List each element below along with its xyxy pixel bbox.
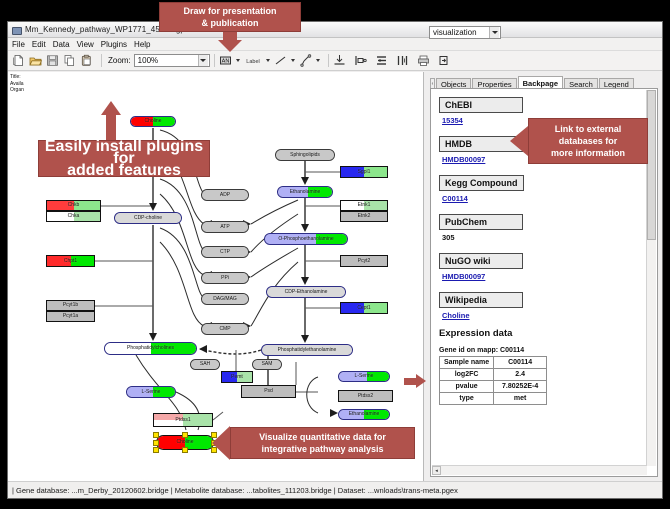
expr-value-type: met xyxy=(494,393,547,405)
db-header-pubchem: PubChem xyxy=(439,214,523,230)
metabolite-node-ethanolamine-right[interactable]: Ethanolamine xyxy=(338,409,390,420)
toolbar: Zoom: 100% AN Label xyxy=(8,51,662,71)
db-section-pubchem: PubChem 305 xyxy=(439,212,643,242)
node-label: Pemt xyxy=(231,375,243,380)
metabolite-node-ethanolamine[interactable]: Ethanolamine xyxy=(277,186,333,198)
menu-plugins[interactable]: Plugins xyxy=(101,40,127,49)
align-bottom-icon[interactable] xyxy=(333,54,346,67)
metabolite-node-l-serine-left[interactable]: L-Serine xyxy=(126,386,176,398)
db-section-nugo: NuGO wiki HMDB00097 xyxy=(439,251,643,281)
selection-handle[interactable] xyxy=(182,432,188,438)
menubar: File Edit Data View Plugins Help xyxy=(8,38,662,51)
node-label: ADP xyxy=(220,193,230,198)
callout-draw-stem xyxy=(223,32,237,40)
node-label: Chka xyxy=(68,214,80,219)
toolbar-separator xyxy=(101,54,102,67)
node-label: Cept1 xyxy=(357,306,370,311)
visualization-combobox[interactable]: visualization xyxy=(429,26,501,39)
callout-draw-line1: Draw for presentation xyxy=(177,5,282,17)
metabolite-node-cdp-choline[interactable]: CDP-choline xyxy=(114,212,182,224)
callout-plugins-line1: Easily install plugins for xyxy=(38,141,210,165)
svg-text:AN: AN xyxy=(221,59,229,65)
node-label: Phosphatidylethanolamine xyxy=(278,348,337,353)
menu-view[interactable]: View xyxy=(77,40,94,49)
node-label: CDP-choline xyxy=(134,216,162,221)
callout-draw: Draw for presentation & publication xyxy=(159,2,301,32)
callout-external-line3: more information xyxy=(545,147,631,159)
order-icon[interactable] xyxy=(438,54,451,67)
expr-value-log2fc: 2.4 xyxy=(494,369,547,381)
node-label: SAH xyxy=(200,362,210,367)
node-label: O-Phosphoethanolamine xyxy=(278,237,333,242)
expr-key-pvalue: pvalue xyxy=(440,381,494,393)
gene-node-chkb[interactable]: Chkb xyxy=(46,200,101,211)
expression-table: Sample name C00114 log2FC 2.4 pvalue 7.8… xyxy=(439,356,547,405)
metabolite-node-cdp-ethanolamine[interactable]: CDP-Ethanolamine xyxy=(266,286,346,298)
metabolite-node-phosphatidylcholines[interactable]: Phosphatidylcholines xyxy=(104,342,197,355)
open-folder-icon[interactable] xyxy=(29,54,42,67)
node-label: Etnk2 xyxy=(358,214,371,219)
pathvisio-window: Mm_Kennedy_pathway_WP1771_45176.gpml Fil… xyxy=(7,21,663,499)
table-row: Sample name C00114 xyxy=(440,357,547,369)
callout-draw-pointer xyxy=(218,40,242,52)
node-label: Ptdss1 xyxy=(175,418,190,423)
print-icon[interactable] xyxy=(417,54,430,67)
node-label: Sgpl1 xyxy=(358,170,371,175)
status-bar: | Gene database: ...m_Derby_20120602.bri… xyxy=(8,481,662,498)
gene-node-pcyt1b[interactable]: Pcyt1b xyxy=(46,300,95,311)
node-label: Psd xyxy=(264,389,273,394)
node-label: Ethanolamine xyxy=(290,190,321,195)
metabolite-node-l-serine-right[interactable]: L-Serine xyxy=(338,371,390,382)
anchor-dropdown-icon[interactable] xyxy=(316,59,320,62)
status-text: | Gene database: ...m_Derby_20120602.bri… xyxy=(12,486,458,495)
expr-value-pvalue: 7.80252E-4 xyxy=(494,381,547,393)
gene-node-pemt[interactable]: Pemt xyxy=(221,371,253,383)
db-section-kegg: Kegg Compound C00114 xyxy=(439,173,643,203)
anchor-icon[interactable] xyxy=(299,54,312,67)
callout-expression-stem xyxy=(404,378,418,385)
gene-node-ptdss1[interactable]: Ptdss1 xyxy=(153,413,213,427)
callout-visualize: Visualize quantitative data for integrat… xyxy=(230,427,415,459)
selection-handle[interactable] xyxy=(153,440,159,446)
gene-id-on-mapp: Gene id on mapp: C00114 xyxy=(439,347,643,354)
metabolite-node-dagmag[interactable]: DAG/MAG xyxy=(201,293,249,305)
node-label: CDP-Ethanolamine xyxy=(285,290,328,295)
db-link-wikipedia[interactable]: Choline xyxy=(442,311,643,320)
pathway-canvas[interactable]: Title: Availa Organ xyxy=(8,72,424,481)
callout-draw-line2: & publication xyxy=(196,17,265,29)
node-label: Pcyt2 xyxy=(358,259,371,264)
main-split: Title: Availa Organ xyxy=(8,72,662,481)
toolbar-separator-2 xyxy=(214,54,215,67)
gene-node-chka[interactable]: Chka xyxy=(46,211,101,222)
node-label: SAM xyxy=(262,362,273,367)
table-row: type met xyxy=(440,393,547,405)
node-label: ATP xyxy=(220,225,229,230)
gene-node-sgpl1[interactable]: Sgpl1 xyxy=(340,166,388,178)
db-link-nugo-wiki[interactable]: HMDB00097 xyxy=(442,272,643,281)
gene-node-chpt1[interactable]: Chpt1 xyxy=(46,255,95,267)
callout-plugins: Easily install plugins for added feature… xyxy=(38,140,210,177)
save-icon[interactable] xyxy=(46,54,59,67)
selection-handle[interactable] xyxy=(153,432,159,438)
callout-external-line2: databases for xyxy=(553,135,624,147)
line-icon[interactable] xyxy=(274,54,287,67)
metabolite-node-o-phosphoethanolamine[interactable]: O-Phosphoethanolamine xyxy=(264,233,348,245)
scroll-left-arrow-icon[interactable]: ◂ xyxy=(432,466,441,475)
node-label: Choline xyxy=(145,119,162,124)
callout-visualize-line2: integrative pathway analysis xyxy=(255,443,389,455)
label-icon[interactable]: Label xyxy=(244,54,262,67)
node-label: PPi xyxy=(221,276,229,281)
callout-plugins-pointer xyxy=(101,101,121,115)
datanode-dropdown-icon[interactable] xyxy=(236,59,240,62)
node-label: CMP xyxy=(219,327,230,332)
node-label: Choline xyxy=(177,440,194,445)
callout-external-db: Link to external databases for more info… xyxy=(528,118,648,164)
chevron-down-icon[interactable] xyxy=(198,55,208,66)
metabolite-node-sam[interactable]: SAM xyxy=(252,359,282,370)
node-label: L-Serine xyxy=(142,390,161,395)
db-header-chebi: ChEBI xyxy=(439,97,523,113)
metabolite-node-sah[interactable]: SAH xyxy=(190,359,220,370)
expr-key-type: type xyxy=(440,393,494,405)
selection-handle[interactable] xyxy=(182,447,188,453)
metabolite-node-ctp[interactable]: CTP xyxy=(201,246,249,258)
pathway-nodes: CholinePhosphocholineCDP-cholinePhosphat… xyxy=(8,72,424,481)
node-label: Ptdss2 xyxy=(358,394,373,399)
table-row: log2FC 2.4 xyxy=(440,369,547,381)
svg-text:Label: Label xyxy=(246,59,259,65)
callout-visualize-left-pointer xyxy=(212,426,230,460)
gene-node-psd[interactable]: Psd xyxy=(241,385,296,398)
db-value-pubchem: 305 xyxy=(442,233,643,242)
new-file-icon[interactable] xyxy=(12,54,25,67)
node-label: Pcyt1b xyxy=(63,303,78,308)
menu-help[interactable]: Help xyxy=(134,40,150,49)
zoom-value: 100% xyxy=(138,56,158,65)
node-label: L-Serine xyxy=(355,374,374,379)
callout-visualize-line1: Visualize quantitative data for xyxy=(253,431,392,443)
paste-icon[interactable] xyxy=(80,54,93,67)
metabolite-node-sphingolipids[interactable]: Sphingolipids xyxy=(275,149,335,161)
backpage-horizontal-scrollbar[interactable]: ◂ xyxy=(432,465,647,475)
node-label: CTP xyxy=(220,250,230,255)
gene-node-etnk2[interactable]: Etnk2 xyxy=(340,211,388,222)
expression-data-heading: Expression data xyxy=(439,328,643,339)
metabolite-node-adp[interactable]: ADP xyxy=(201,189,249,201)
db-header-wikipedia: Wikipedia xyxy=(439,292,523,308)
expr-key-log2fc: log2FC xyxy=(440,369,494,381)
scrollbar-thumb[interactable] xyxy=(647,90,656,240)
table-row: pvalue 7.80252E-4 xyxy=(440,381,547,393)
metabolite-node-atp[interactable]: ATP xyxy=(201,221,249,233)
app-icon xyxy=(11,25,21,35)
db-link-kegg-compound[interactable]: C00114 xyxy=(442,194,643,203)
expr-key-sample-name: Sample name xyxy=(440,357,494,369)
metabolite-node-cmp[interactable]: CMP xyxy=(201,323,249,335)
node-label: Etnk1 xyxy=(358,203,371,208)
node-label: Chpt1 xyxy=(64,259,77,264)
node-label: Phosphatidylcholines xyxy=(127,346,174,351)
stack-icon[interactable] xyxy=(375,54,388,67)
screenshot-root: Mm_Kennedy_pathway_WP1771_45176.gpml Fil… xyxy=(0,0,670,509)
node-label: Ethanolamine xyxy=(349,412,380,417)
db-header-kegg-compound: Kegg Compound xyxy=(439,175,524,191)
visualization-chevron-down-icon[interactable] xyxy=(489,27,499,38)
node-label: Sphingolipids xyxy=(290,153,320,158)
menu-data[interactable]: Data xyxy=(53,40,70,49)
side-panel: visualization ‹ Objects Properties Backp… xyxy=(424,72,662,481)
node-label: Pcyt1a xyxy=(63,314,78,319)
metabolite-node-choline-top[interactable]: Choline xyxy=(130,116,176,127)
gene-node-etnk1[interactable]: Etnk1 xyxy=(340,200,388,211)
window-titlebar: Mm_Kennedy_pathway_WP1771_45176.gpml xyxy=(8,22,662,38)
gene-node-pcyt2[interactable]: Pcyt2 xyxy=(340,255,388,267)
label-dropdown-icon[interactable] xyxy=(266,59,270,62)
callout-plugins-line2: added features xyxy=(61,165,187,177)
gene-node-pcyt1a[interactable]: Pcyt1a xyxy=(46,311,95,322)
gene-node-ptdss2[interactable]: Ptdss2 xyxy=(338,390,393,402)
toolbar-separator-3 xyxy=(328,54,329,67)
callout-external-line1: Link to external xyxy=(549,123,628,135)
line-dropdown-icon[interactable] xyxy=(291,59,295,62)
gene-node-cept1[interactable]: Cept1 xyxy=(340,302,388,314)
visualization-value: visualization xyxy=(433,28,477,37)
node-label: Chkb xyxy=(68,203,80,208)
datanode-icon[interactable]: AN xyxy=(219,54,232,67)
expr-value-sample-name: C00114 xyxy=(494,357,547,369)
metabolite-node-ppi[interactable]: PPi xyxy=(201,272,249,284)
callout-external-pointer xyxy=(510,126,528,156)
zoom-combobox[interactable]: 100% xyxy=(134,54,210,67)
metabolite-node-phosphatidylethanolamine[interactable]: Phosphatidylethanolamine xyxy=(261,344,353,356)
zoom-label: Zoom: xyxy=(108,56,131,65)
db-header-nugo-wiki: NuGO wiki xyxy=(439,253,523,269)
node-label: DAG/MAG xyxy=(213,297,237,302)
menu-edit[interactable]: Edit xyxy=(32,40,46,49)
align-left-icon[interactable] xyxy=(354,54,367,67)
copy-icon[interactable] xyxy=(63,54,76,67)
selection-handle[interactable] xyxy=(153,447,159,453)
menu-file[interactable]: File xyxy=(12,40,25,49)
db-section-wikipedia: Wikipedia Choline xyxy=(439,290,643,320)
distribute-icon[interactable] xyxy=(396,54,409,67)
